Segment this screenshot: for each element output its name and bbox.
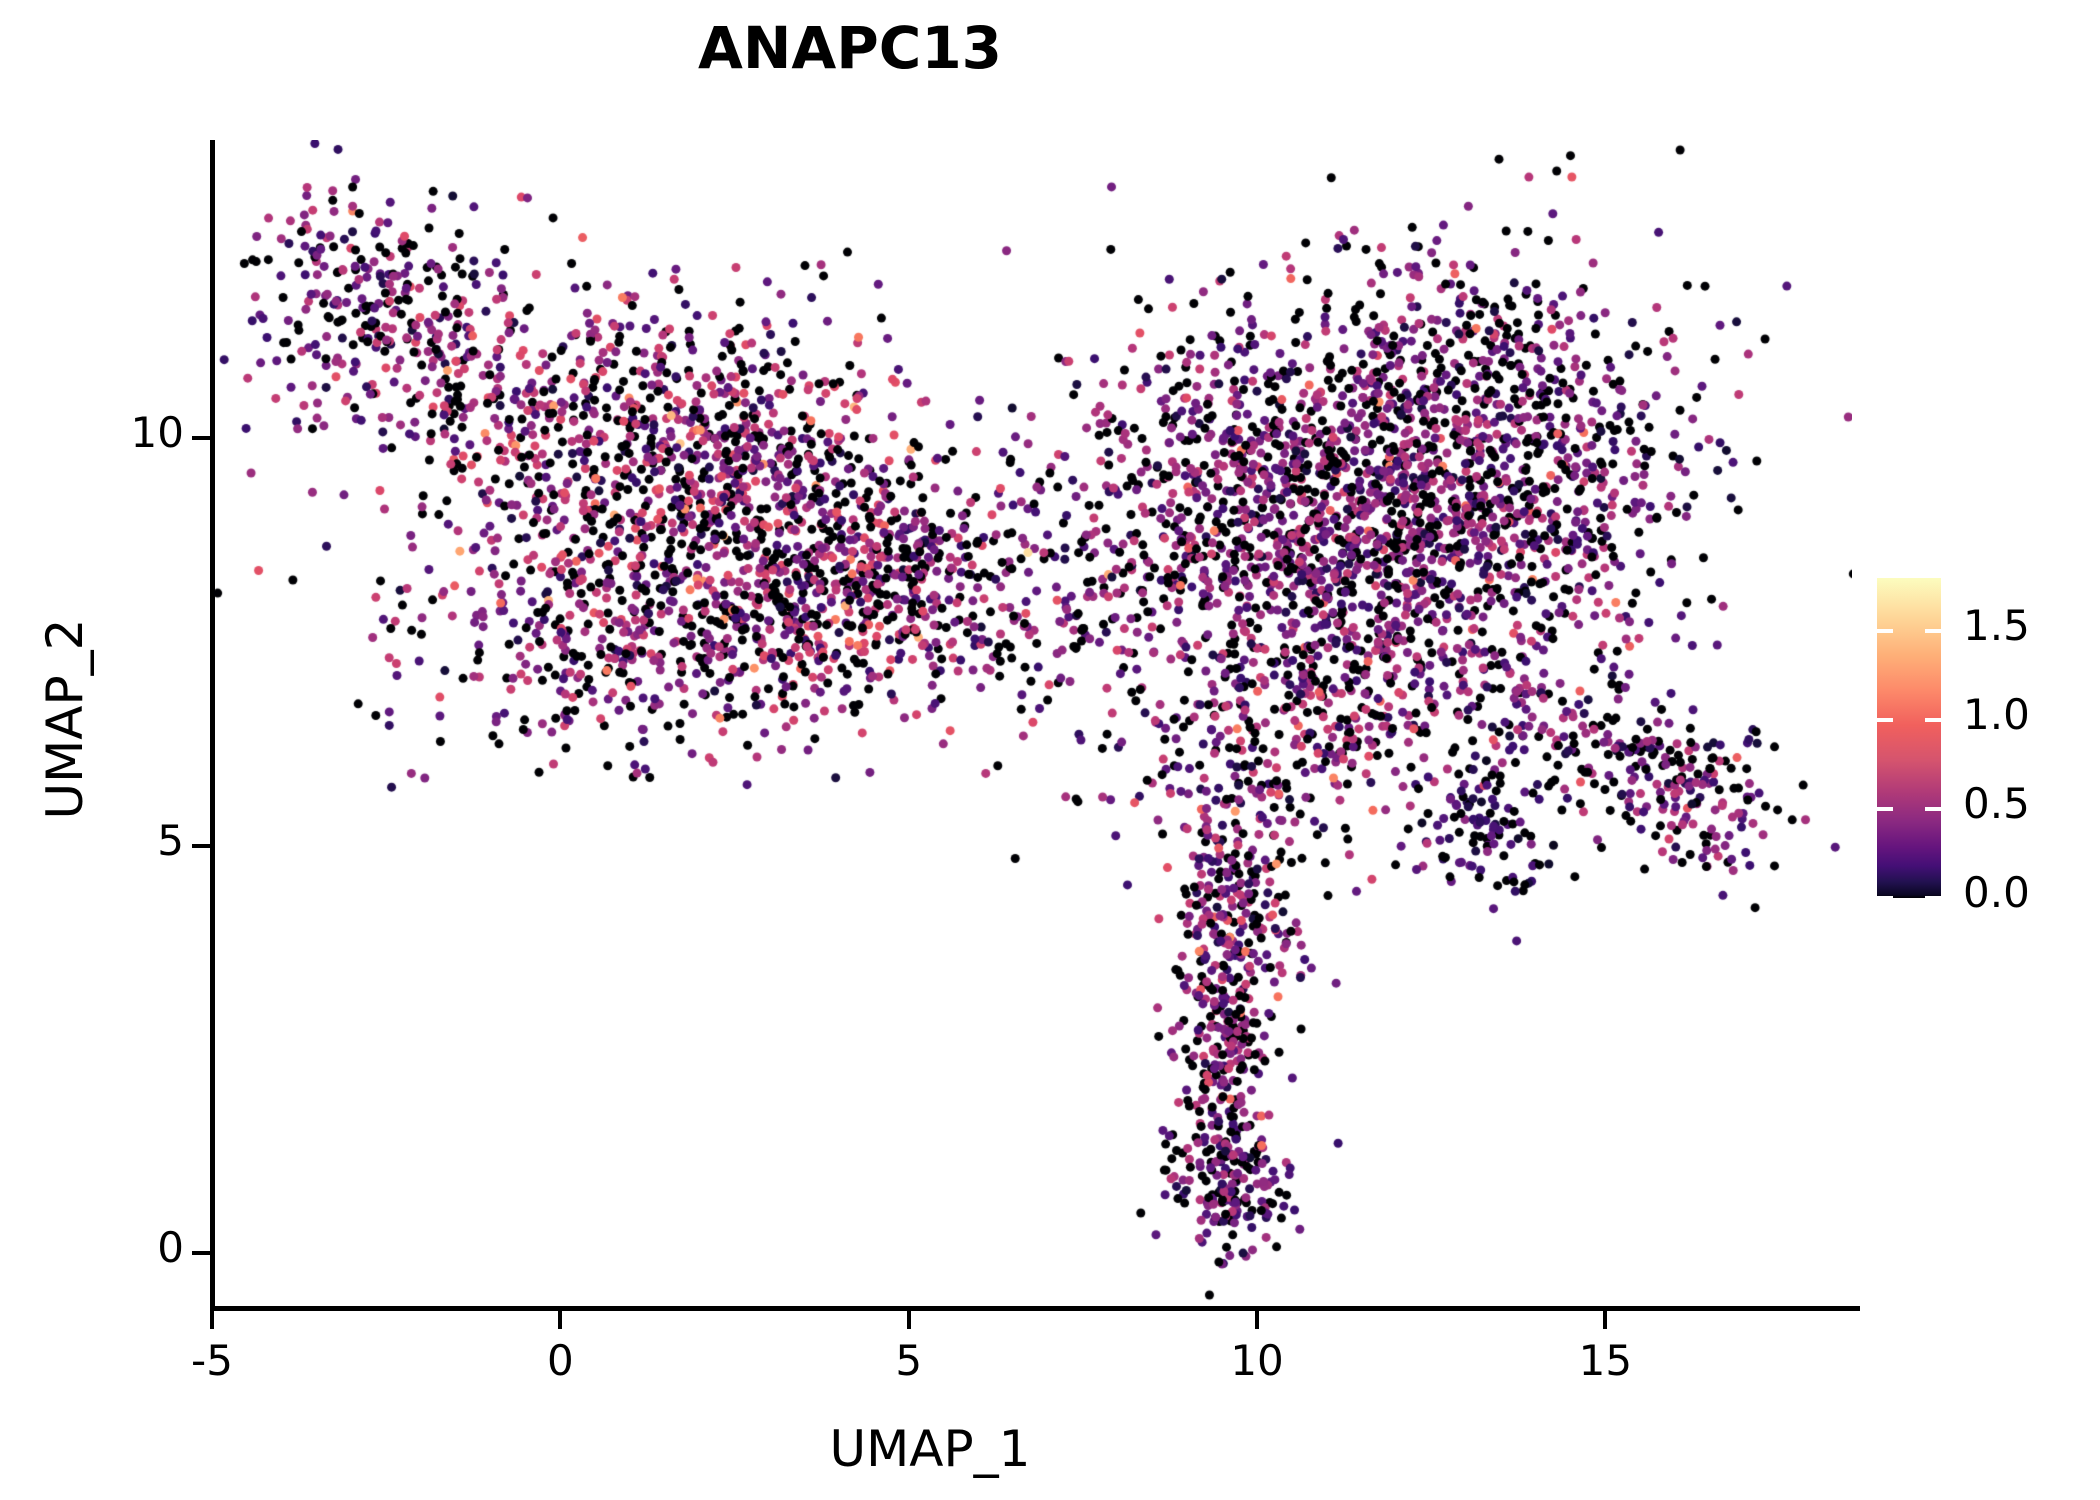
y-tick-10 (192, 436, 210, 440)
x-tick-label-10: 10 (1177, 1336, 1337, 1385)
x-tick-5 (907, 1311, 911, 1329)
x-tick-label-0: 0 (480, 1336, 640, 1385)
scatter-plot-area (212, 140, 1852, 1305)
x-tick--5 (210, 1311, 214, 1329)
scatter-points-canvas (212, 140, 1852, 1305)
colorbar-tick-0.0 (1877, 896, 1941, 900)
x-tick-0 (558, 1311, 562, 1329)
colorbar-label-1.5: 1.5 (1963, 601, 2030, 650)
colorbar-tick-1.5 (1877, 629, 1941, 633)
y-tick-0 (192, 1251, 210, 1255)
x-tick-label-5: 5 (829, 1336, 989, 1385)
colorbar-gradient (1877, 578, 1941, 898)
y-axis-label: UMAP_2 (36, 419, 94, 1019)
colorbar-label-1.0: 1.0 (1963, 690, 2030, 739)
x-axis-label: UMAP_1 (0, 1420, 1860, 1478)
y-tick-5 (192, 844, 210, 848)
page-title: ANAPC13 (0, 14, 1700, 82)
umap-feature-plot: ANAPC13 -5051015 0510 UMAP_1 UMAP_2 0.00… (0, 0, 2100, 1500)
colorbar-label-0.5: 0.5 (1963, 779, 2030, 828)
colorbar-tick-0.5 (1877, 807, 1941, 811)
x-tick-15 (1603, 1311, 1607, 1329)
x-tick-label-15: 15 (1525, 1336, 1685, 1385)
x-tick-label--5: -5 (132, 1336, 292, 1385)
x-tick-10 (1255, 1311, 1259, 1329)
colorbar-tick-1.0 (1877, 718, 1941, 722)
x-axis-spine (210, 1306, 1860, 1311)
y-tick-label-0: 0 (0, 1223, 184, 1272)
colorbar-label-0.0: 0.0 (1963, 868, 2030, 917)
